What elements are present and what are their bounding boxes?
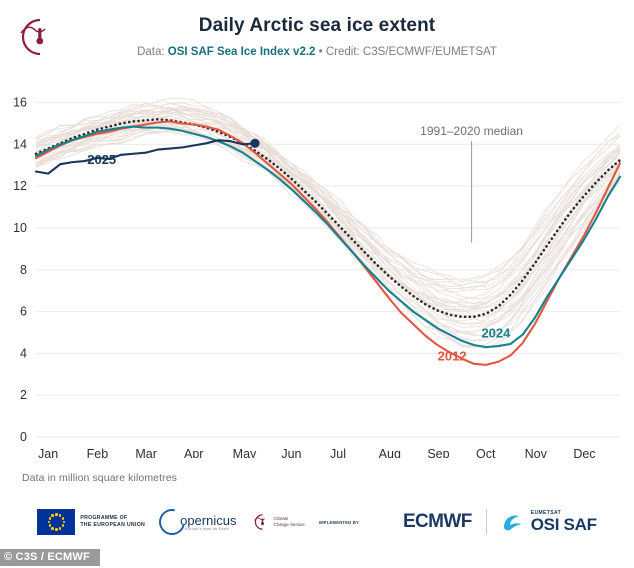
y-axis-tick-label: 8 xyxy=(20,263,27,277)
historical-year-line xyxy=(36,124,620,317)
line-chart: 0246810121416JanFebMarAprMayJunJulAugSep… xyxy=(0,78,634,458)
copernicus-wordmark: opernicus Europe's eyes on Earth xyxy=(185,514,236,531)
eu-line-2: THE EUROPEAN UNION xyxy=(80,522,145,529)
subtitle-source-link[interactable]: OSI SAF Sea Ice Index v2.2 xyxy=(168,46,316,58)
y-axis-tick-label: 14 xyxy=(13,137,27,151)
osisaf-logo: EUMETSAT OSI SAF xyxy=(501,510,597,534)
chart-area: 0246810121416JanFebMarAprMayJunJulAugSep… xyxy=(0,78,634,458)
page-title: Daily Arctic sea ice extent xyxy=(0,14,634,38)
copernicus-word: opernicus xyxy=(180,514,236,527)
historical-year-line xyxy=(36,130,620,347)
series-line-2024 xyxy=(36,127,620,348)
osisaf-label: OSI SAF xyxy=(531,516,597,534)
x-axis-tick-label: Feb xyxy=(87,447,109,458)
x-axis-tick-label: Jul xyxy=(330,447,346,458)
y-axis-tick-label: 12 xyxy=(13,179,27,193)
chart-subtitle: Data: OSI SAF Sea Ice Index v2.2 • Credi… xyxy=(0,44,634,60)
latest-value-marker xyxy=(250,139,259,148)
y-axis-tick-label: 4 xyxy=(20,346,27,360)
c3s-small-text: Climate Change Service xyxy=(273,516,304,528)
x-axis-tick-label: Mar xyxy=(135,447,157,458)
annotation-2012: 2012 xyxy=(438,349,467,364)
ecmwf-mark-icon xyxy=(377,513,403,531)
units-note: Data in million square kilometres xyxy=(22,472,177,484)
eu-logo: PROGRAMME OF THE EUROPEAN UNION xyxy=(37,509,145,535)
annotation-1991-2020-median: 1991–2020 median xyxy=(420,124,523,138)
historical-year-line xyxy=(36,111,620,306)
c3s-text-line-2: Change Service xyxy=(273,522,304,528)
series-line-2012 xyxy=(36,121,620,365)
historical-year-line xyxy=(36,125,620,349)
subtitle-credit: • Credit: C3S/ECMWF/EUMETSAT xyxy=(315,46,496,58)
copernicus-logo: opernicus Europe's eyes on Earth xyxy=(159,509,236,535)
c3s-small-logo: Climate Change Service xyxy=(250,512,304,532)
logo-divider xyxy=(486,509,487,535)
implemented-by-label: IMPLEMENTED BY xyxy=(319,520,359,525)
historical-year-line xyxy=(36,127,620,347)
x-axis-tick-label: Sep xyxy=(427,447,449,458)
c3s-small-icon xyxy=(250,512,270,532)
eu-flag-icon xyxy=(37,509,75,535)
partner-logo-bar: PROGRAMME OF THE EUROPEAN UNION opernicu… xyxy=(0,500,634,544)
annotation-2024: 2024 xyxy=(481,326,511,341)
x-axis-tick-label: Apr xyxy=(184,447,203,458)
chart-header: Daily Arctic sea ice extent Data: OSI SA… xyxy=(0,14,634,60)
y-axis-tick-label: 6 xyxy=(20,305,27,319)
y-axis-tick-label: 10 xyxy=(13,221,27,235)
x-axis-tick-label: Nov xyxy=(525,447,548,458)
x-axis-tick-label: Jun xyxy=(281,447,301,458)
x-axis-tick-label: Jan xyxy=(38,447,58,458)
ecmwf-logo: ECMWF xyxy=(377,511,472,533)
y-axis-tick-label: 2 xyxy=(20,388,27,402)
annotation-2025: 2025 xyxy=(87,152,116,167)
eu-logo-text: PROGRAMME OF THE EUROPEAN UNION xyxy=(80,515,145,529)
ecmwf-wordmark: ECMWF xyxy=(403,511,472,533)
copernicus-c-icon xyxy=(154,504,190,540)
copernicus-tagline: Europe's eyes on Earth xyxy=(185,527,236,531)
subtitle-prefix: Data: xyxy=(137,46,168,58)
x-axis-tick-label: Oct xyxy=(476,447,496,458)
x-axis-tick-label: Aug xyxy=(379,447,401,458)
x-axis-tick-label: May xyxy=(233,447,257,458)
eu-line-1: PROGRAMME OF xyxy=(80,515,145,522)
osisaf-wordmark: EUMETSAT OSI SAF xyxy=(531,510,597,534)
y-axis-tick-label: 16 xyxy=(13,96,27,110)
osisaf-mark-icon xyxy=(501,511,527,533)
y-axis-tick-label: 0 xyxy=(20,430,27,444)
x-axis-tick-label: Dec xyxy=(573,447,595,458)
historical-year-line xyxy=(36,121,620,333)
copyright-watermark: © C3S / ECMWF xyxy=(0,549,100,566)
